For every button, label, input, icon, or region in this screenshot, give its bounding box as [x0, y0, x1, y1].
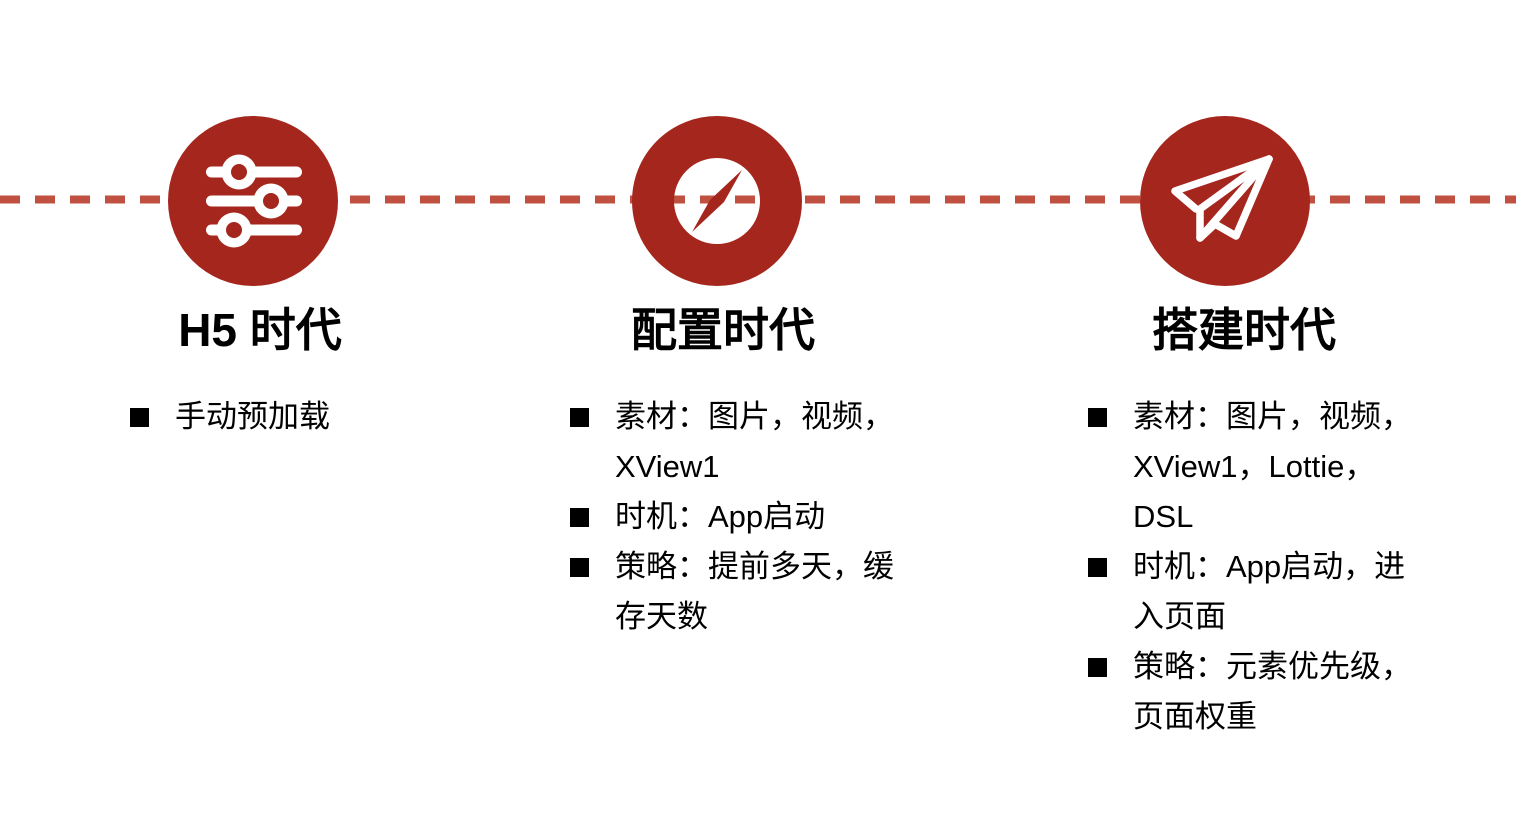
- bullet-square-icon: [570, 508, 589, 527]
- sliders-icon: [168, 116, 338, 286]
- list-item: 策略：提前多天，缓存天数: [570, 542, 970, 642]
- list-item: 时机：App启动: [570, 492, 970, 542]
- stage-badge-h5: [168, 116, 338, 286]
- bullet-square-icon: [1088, 408, 1107, 427]
- stage-badge-builder: [1140, 116, 1310, 286]
- stage-badge-config: [632, 116, 802, 286]
- list-item: 手动预加载: [130, 392, 530, 442]
- bullet-square-icon: [1088, 658, 1107, 677]
- bullet-square-icon: [570, 558, 589, 577]
- list-item: 素材：图片，视频，XView1，Lottie，DSL: [1088, 392, 1508, 542]
- stage-title-config: 配置时代: [523, 305, 923, 357]
- stage-title-builder: 搭建时代: [1034, 305, 1454, 357]
- list-item: 时机：App启动，进入页面: [1088, 542, 1508, 642]
- stage-bullets-config: 素材：图片，视频，XView1 时机：App启动 策略：提前多天，缓存天数: [523, 392, 980, 642]
- bullet-square-icon: [130, 408, 149, 427]
- list-item: 素材：图片，视频，XView1: [570, 392, 970, 492]
- bullet-square-icon: [570, 408, 589, 427]
- stage-bullets-h5: 手动预加载: [60, 392, 550, 442]
- compass-icon: [632, 116, 802, 286]
- stage-bullets-builder: 素材：图片，视频，XView1，Lottie，DSL 时机：App启动，进入页面…: [1034, 392, 1516, 742]
- paper-plane-icon: [1140, 116, 1310, 286]
- bullet-square-icon: [1088, 558, 1107, 577]
- stage-title-h5: H5 时代: [60, 305, 460, 357]
- list-item: 策略：元素优先级，页面权重: [1088, 642, 1508, 742]
